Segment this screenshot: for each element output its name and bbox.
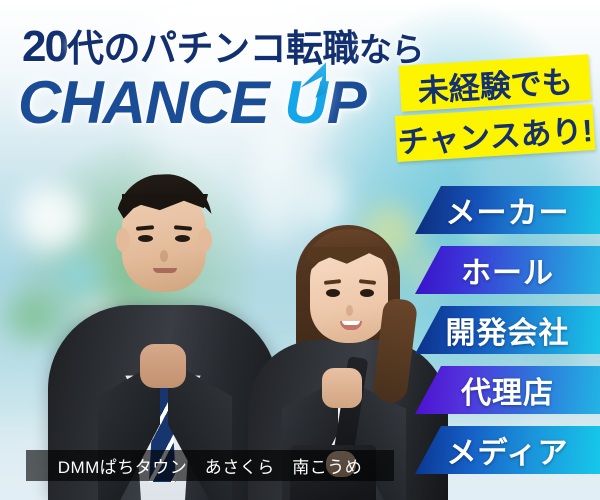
eye-left <box>326 289 340 297</box>
category-button-developer[interactable]: 開発会社 <box>415 306 600 354</box>
logo-u-glyph: U <box>284 69 326 136</box>
logo-text-chance: CHANCE <box>18 69 284 136</box>
credit-bar: DMMぱちタウン あさくら 南こうめ <box>26 450 394 481</box>
neck <box>140 344 186 388</box>
ear-left <box>116 228 130 252</box>
category-button-hall[interactable]: ホール <box>415 246 600 294</box>
headline: 20代のパチンコ転職なら <box>22 18 452 72</box>
ear-right <box>198 228 212 252</box>
ad-banner[interactable]: 20代のパチンコ転職なら CHANCE UP 未経験でも チャンスあり! メーカ… <box>0 0 600 500</box>
headline-middle: 代のパチンコ転職 <box>67 28 359 69</box>
category-button-media[interactable]: メディア <box>415 426 600 474</box>
logo-chance-up: CHANCE UP <box>18 68 418 140</box>
category-button-maker[interactable]: メーカー <box>415 186 600 234</box>
logo-text-p: P <box>327 69 366 136</box>
eye-right <box>360 289 374 297</box>
headline-number: 20 <box>22 22 67 71</box>
headline-tail: なら <box>359 31 424 68</box>
person-man <box>48 150 278 500</box>
teeth <box>342 321 360 325</box>
neck <box>322 368 362 408</box>
eye-left <box>138 235 153 242</box>
nose <box>346 305 353 316</box>
category-button-agency[interactable]: 代理店 <box>415 366 600 414</box>
mouth <box>153 268 177 273</box>
nose <box>160 250 168 262</box>
logo-letter-u: U <box>284 68 326 137</box>
eye-right <box>175 235 190 242</box>
